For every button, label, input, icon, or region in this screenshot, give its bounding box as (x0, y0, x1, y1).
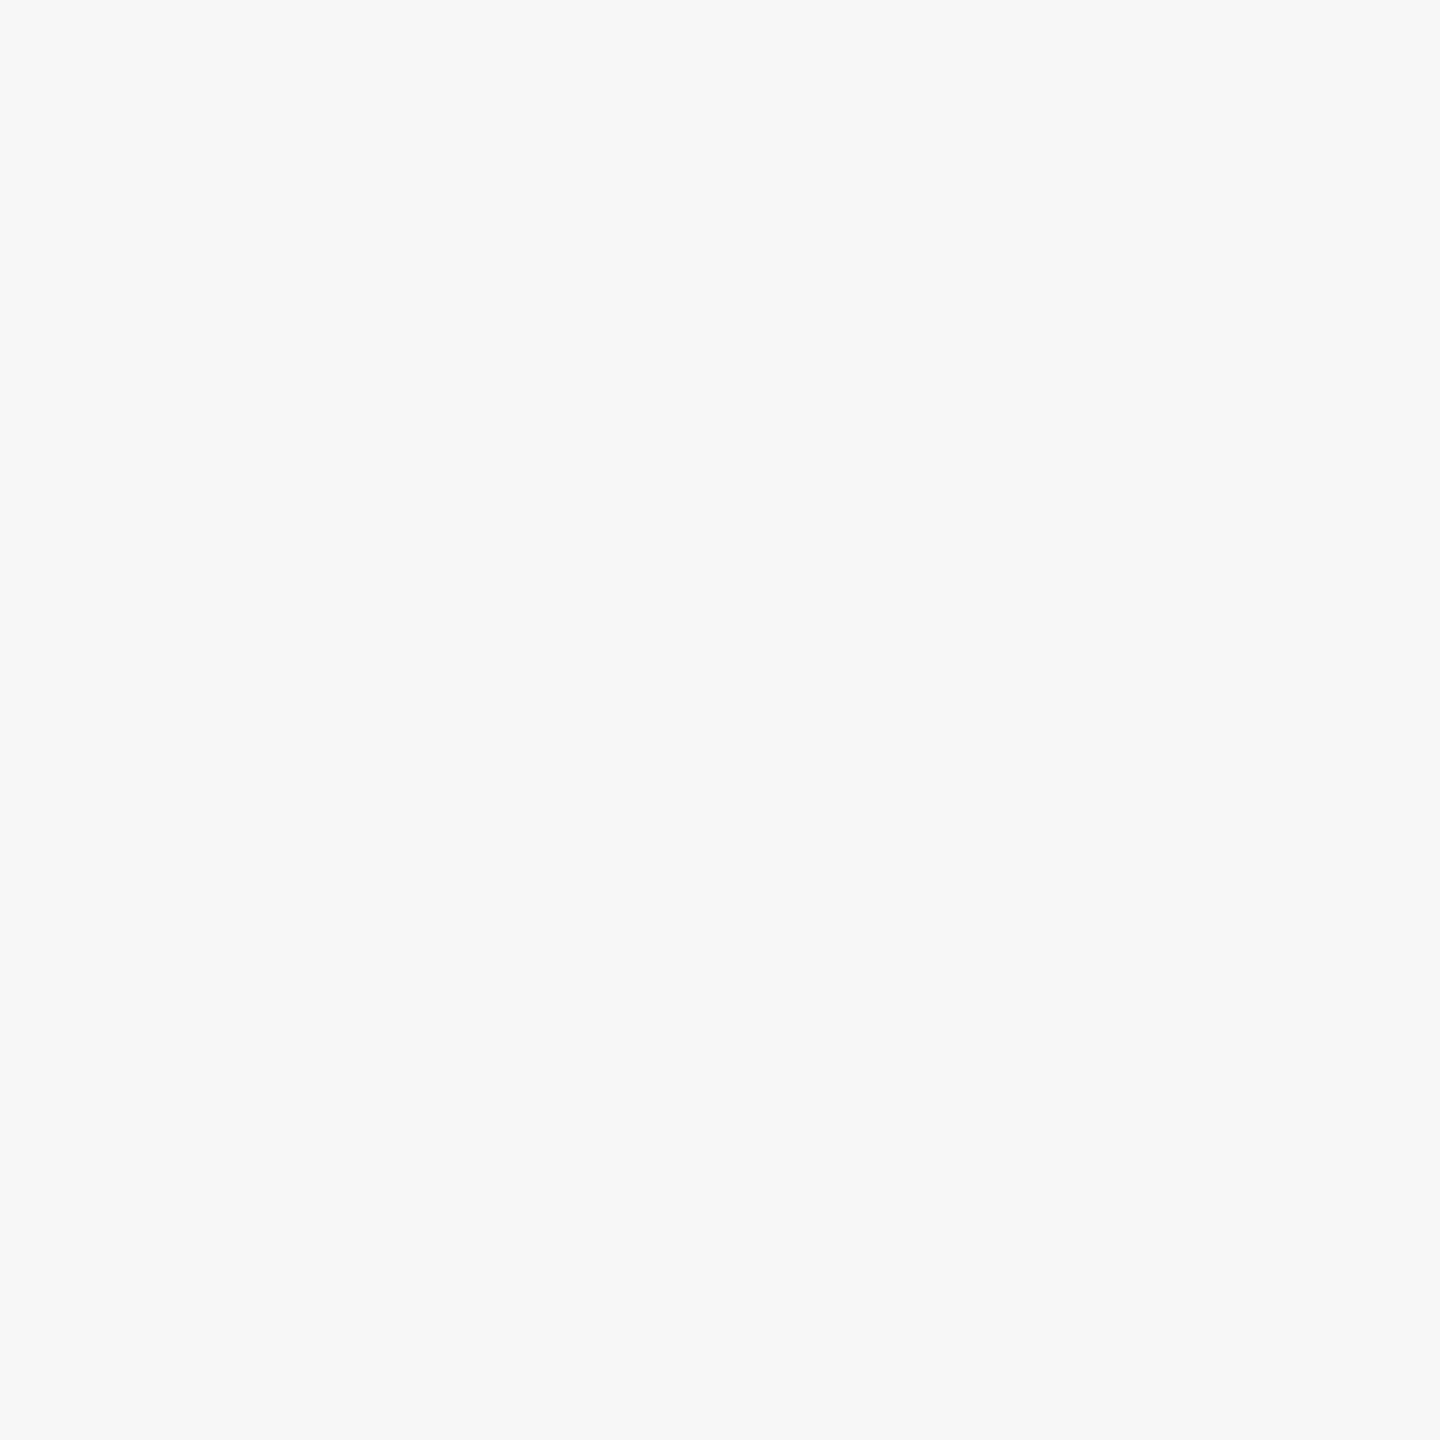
page-header (0, 0, 1440, 256)
brush-spec-table (0, 256, 1440, 1440)
